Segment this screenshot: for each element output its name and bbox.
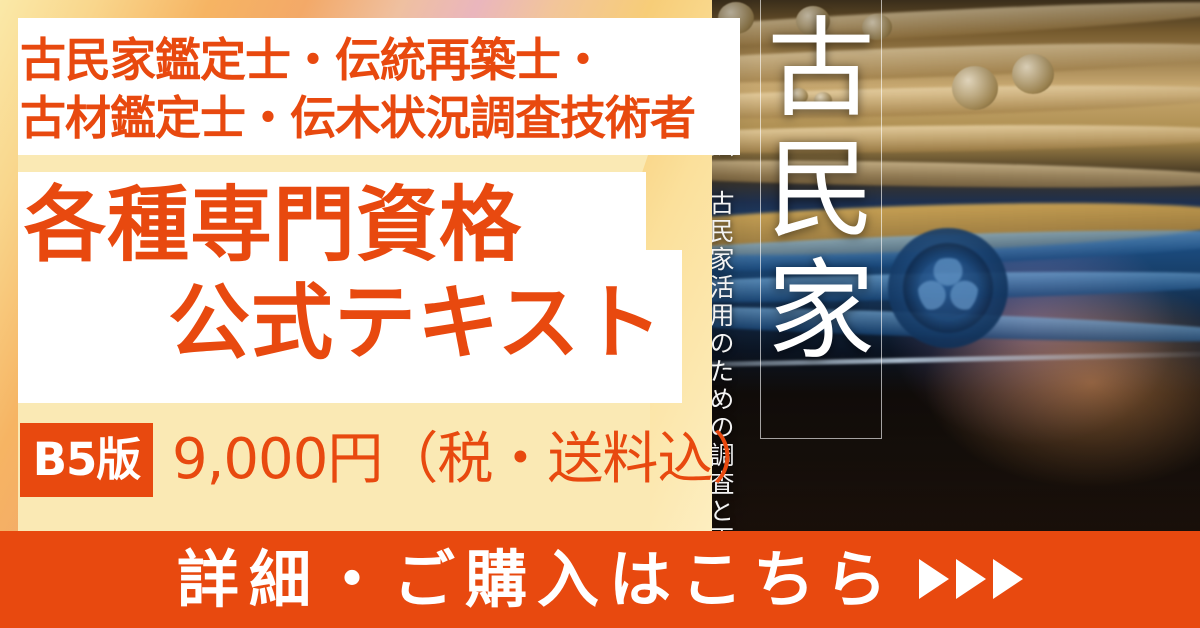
triangle-right-icon xyxy=(993,559,1023,599)
triangle-right-icon xyxy=(919,559,949,599)
qualifications-line-1: 古民家鑑定士・伝統再築士・ xyxy=(20,31,605,89)
cover-title: 古 民 家 xyxy=(763,10,879,373)
qualifications-line-2: 古材鑑定士・伝木状況調査技術者 xyxy=(20,89,695,147)
cta-bar[interactable]: 詳細・ご購入はこちら xyxy=(0,531,1200,628)
cta-label: 詳細・ご購入はこちら xyxy=(177,531,897,628)
cta-arrow-group xyxy=(919,559,1023,599)
price-text: 9,000円（税・送料込） xyxy=(172,428,767,492)
format-badge: B5版 xyxy=(20,423,153,497)
main-title-line-2: 公式テキスト xyxy=(168,278,664,370)
cover-title-char: 家 xyxy=(763,252,879,373)
triangle-right-icon xyxy=(956,559,986,599)
main-title-line-1: 各種専門資格 xyxy=(24,180,522,272)
cover-title-char: 古 xyxy=(763,10,879,131)
cover-title-char: 民 xyxy=(763,131,879,252)
promo-banner: 古 民 家 伝統構法 古民家活用のための調査と再生の 古民家鑑定士・伝統再築士・… xyxy=(0,0,1200,628)
